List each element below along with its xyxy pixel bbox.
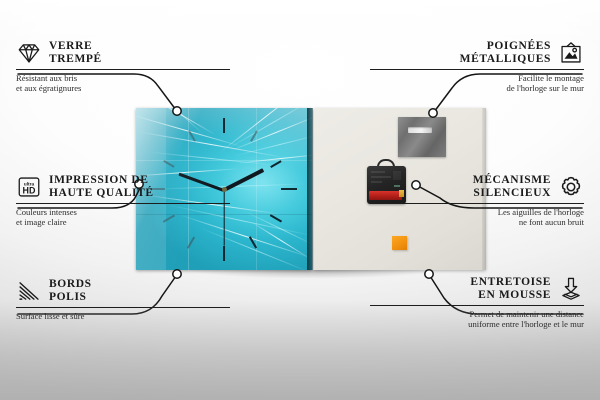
clock-tick bbox=[270, 160, 281, 167]
feature-title-line-1: IMPRESSION DE bbox=[49, 174, 154, 187]
feature-mecanisme-silencieux: MÉCANISME SILENCIEUX Les aiguilles de l'… bbox=[370, 174, 584, 228]
gear-icon bbox=[558, 174, 584, 200]
picture-frame-hanger-icon bbox=[558, 40, 584, 66]
feature-title-line-1: POIGNÉES bbox=[460, 40, 551, 53]
feature-subtitle-line-1: Résistant aux bris bbox=[16, 73, 230, 83]
polished-edge-icon bbox=[16, 278, 42, 304]
infographic-canvas: VERRE TREMPÉ Résistant aux bris et aux é… bbox=[0, 0, 600, 400]
feature-title-line-2: SILENCIEUX bbox=[473, 187, 551, 200]
feature-poignees-metalliques: POIGNÉES MÉTALLIQUES Facilite le montage… bbox=[370, 40, 584, 94]
ultra-hd-large-text: HD bbox=[23, 186, 36, 196]
feature-title-line-2: TREMPÉ bbox=[49, 53, 102, 66]
feature-rule bbox=[16, 307, 230, 308]
feature-header: POIGNÉES MÉTALLIQUES bbox=[370, 40, 584, 66]
feature-verre-trempe: VERRE TREMPÉ Résistant aux bris et aux é… bbox=[16, 40, 230, 94]
feature-header: ultra HD IMPRESSION DE HAUTE QUALITÉ bbox=[16, 174, 230, 200]
feature-header: BORDS POLIS bbox=[16, 278, 230, 304]
feature-rule bbox=[370, 203, 584, 204]
feature-title-line-1: VERRE bbox=[49, 40, 102, 53]
feature-header: MÉCANISME SILENCIEUX bbox=[370, 174, 584, 200]
foam-spacer-icon bbox=[558, 276, 584, 302]
feature-subtitle-line-1: Couleurs intenses bbox=[16, 207, 230, 217]
feature-subtitle-line-2: ne font aucun bruit bbox=[370, 217, 584, 227]
feature-entretoise-en-mousse: ENTRETOISE EN MOUSSE Permet de maintenir… bbox=[370, 276, 584, 330]
clock-edge bbox=[307, 108, 313, 270]
feature-subtitle-line-2: de l'horloge sur le mur bbox=[370, 83, 584, 93]
feature-rule bbox=[16, 203, 230, 204]
feature-title-line-2: POLIS bbox=[49, 291, 92, 304]
feature-title-line-1: MÉCANISME bbox=[473, 174, 551, 187]
feature-bords-polis: BORDS POLIS Surface lisse et sûre bbox=[16, 278, 230, 321]
feature-subtitle-line-2: uniforme entre l'horloge et le mur bbox=[370, 319, 584, 329]
clock-tick bbox=[223, 118, 225, 133]
hanger-slot bbox=[408, 127, 432, 133]
feature-rule bbox=[370, 69, 584, 70]
feature-title-line-2: EN MOUSSE bbox=[470, 289, 551, 302]
feature-subtitle-line-2: et aux égratignures bbox=[16, 83, 230, 93]
feature-subtitle-line-1: Les aiguilles de l'horloge bbox=[370, 207, 584, 217]
ultra-hd-icon: ultra HD bbox=[16, 174, 42, 200]
feature-subtitle-line-2: et image claire bbox=[16, 217, 230, 227]
feature-subtitle-line-1: Permet de maintenir une distance bbox=[370, 309, 584, 319]
feature-title-line-2: MÉTALLIQUES bbox=[460, 53, 551, 66]
feature-rule bbox=[16, 69, 230, 70]
feature-title-line-1: ENTRETOISE bbox=[470, 276, 551, 289]
metal-hanger-plate bbox=[398, 117, 446, 157]
feature-header: VERRE TREMPÉ bbox=[16, 40, 230, 66]
foam-spacer bbox=[392, 236, 407, 250]
feature-impression-haute-qualite: ultra HD IMPRESSION DE HAUTE QUALITÉ Cou… bbox=[16, 174, 230, 228]
feature-header: ENTRETOISE EN MOUSSE bbox=[370, 276, 584, 302]
feature-title-line-2: HAUTE QUALITÉ bbox=[49, 187, 154, 200]
clock-tick bbox=[223, 246, 225, 261]
feature-subtitle-line-1: Facilite le montage bbox=[370, 73, 584, 83]
feature-title-line-1: BORDS bbox=[49, 278, 92, 291]
feature-rule bbox=[370, 305, 584, 306]
feature-subtitle-line-1: Surface lisse et sûre bbox=[16, 311, 230, 321]
clock-tick bbox=[281, 188, 297, 190]
clock-tick bbox=[270, 215, 282, 223]
diamond-icon bbox=[16, 40, 42, 66]
